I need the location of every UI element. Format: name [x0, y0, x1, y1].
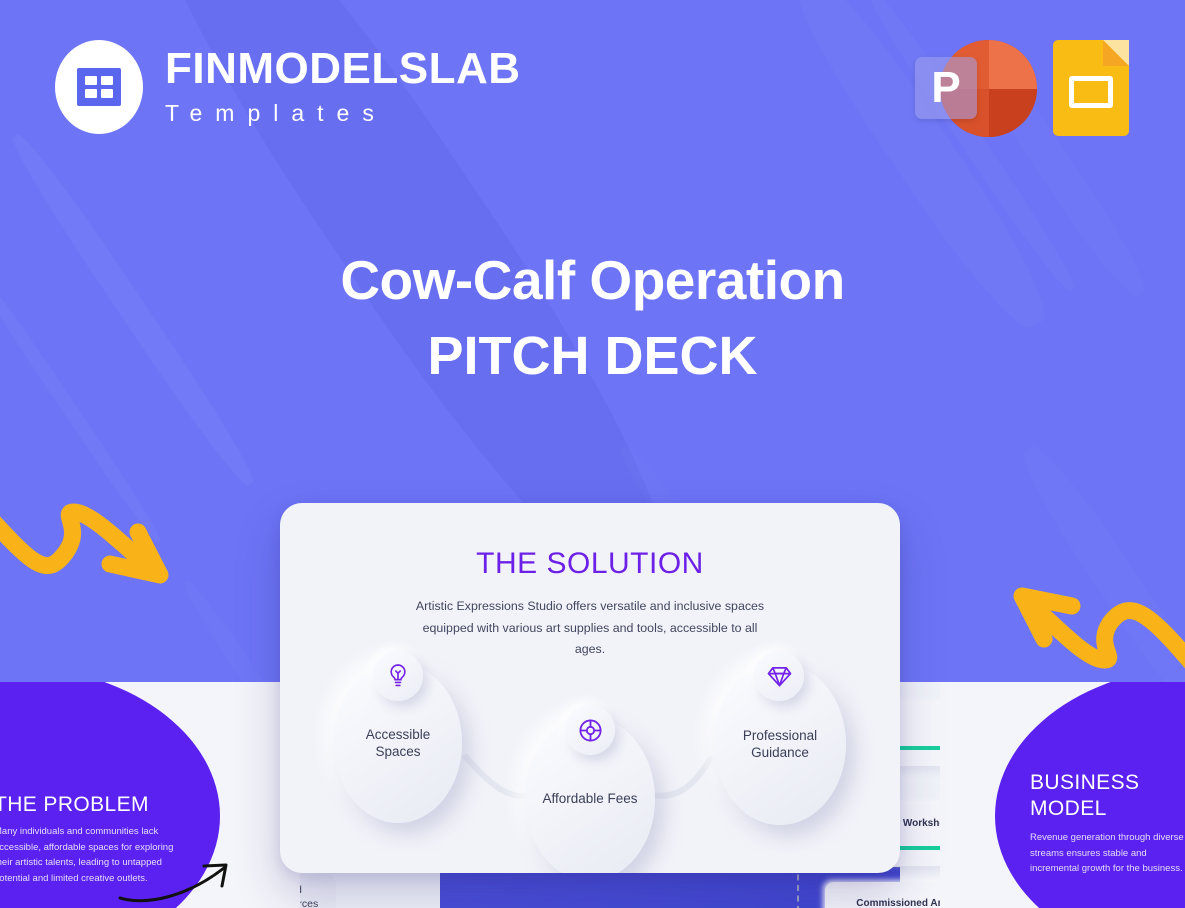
powerpoint-icon[interactable]: P: [915, 36, 1025, 141]
grid-window-icon: [77, 68, 121, 106]
page-title: Cow-Calf Operation: [0, 248, 1185, 313]
pie-chart-icon: [565, 705, 615, 755]
brand-name: FINMODELSLAB: [165, 47, 521, 91]
brand-logo[interactable]: FINMODELSLAB Templates: [55, 40, 521, 134]
slides-screen-icon: [1069, 76, 1113, 108]
logo-circle: [55, 40, 143, 134]
lightbulb-icon: [373, 651, 423, 701]
solution-title: THE SOLUTION: [280, 547, 900, 581]
page-header: FINMODELSLAB Templates P: [0, 0, 1185, 180]
bubble-label: Accessible Spaces: [366, 726, 431, 761]
business-title-line1: BUSINESS: [1030, 770, 1139, 796]
google-slides-icon[interactable]: [1053, 40, 1129, 136]
diamond-icon: [754, 651, 804, 701]
hero-section: Cow-Calf Operation PITCH DECK: [0, 248, 1185, 389]
powerpoint-letter: P: [915, 57, 977, 119]
page-subtitle: PITCH DECK: [0, 325, 1185, 389]
business-body: Revenue generation through diverse strea…: [1030, 830, 1185, 877]
slide-preview-problem[interactable]: THE PROBLEM Many individuals and communi…: [0, 682, 300, 908]
brand-subtitle: Templates: [165, 100, 521, 127]
business-title-line2: MODEL: [1030, 796, 1107, 822]
bubble-label: Affordable Fees: [542, 790, 637, 807]
problem-title: THE PROBLEM: [0, 792, 149, 818]
curvy-arrow-left-icon: [1000, 578, 1185, 688]
solution-body: Artistic Expressions Studio offers versa…: [410, 596, 770, 661]
bubble-label: Professional Guidance: [743, 727, 817, 762]
slide-preview-solution[interactable]: THE SOLUTION Artistic Expressions Studio…: [280, 503, 900, 873]
curvy-arrow-right-icon: [0, 470, 188, 590]
progress-bar-1: [896, 746, 942, 750]
slide-preview-business[interactable]: BUSINESS MODEL Revenue generation throug…: [940, 682, 1185, 908]
hand-drawn-arrow-icon: [118, 860, 238, 904]
